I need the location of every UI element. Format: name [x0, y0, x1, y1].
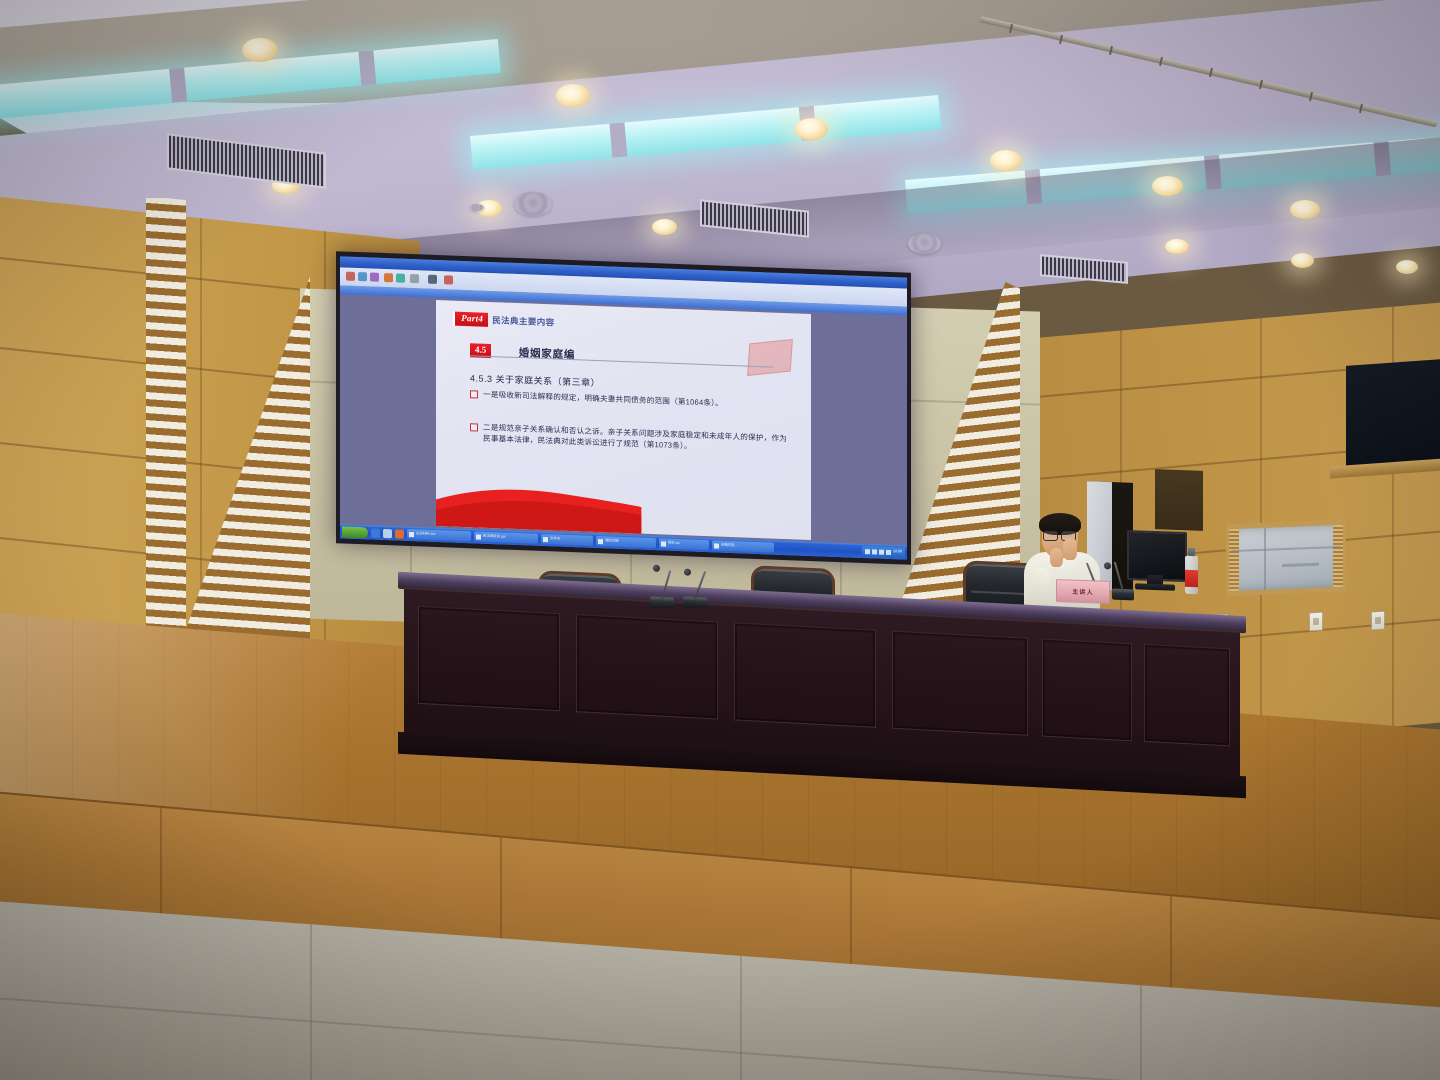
downlight: [1290, 200, 1320, 219]
taskbar-button[interactable]: 文件夹: [541, 534, 593, 546]
slide-bullet: 一是吸收新司法解释的规定，明确夫妻共同债务的范围（第1064条）。: [470, 388, 788, 411]
lecture-hall-photo: Part4 民法典主要内容 4.5 婚姻家庭编 4.5.3 关于家庭关系（第三章…: [0, 0, 1440, 1080]
presentation-canvas: Part4 民法典主要内容 4.5 婚姻家庭编 4.5.3 关于家庭关系（第三章…: [340, 294, 907, 545]
section-divider: [470, 355, 773, 367]
taskbar-button[interactable]: 资料.xls: [659, 538, 709, 550]
quicklaunch-media-icon[interactable]: [395, 529, 404, 538]
presenter-hand-right: [1063, 538, 1077, 560]
projected-desktop: Part4 民法典主要内容 4.5 婚姻家庭编 4.5.3 关于家庭关系（第三章…: [340, 256, 907, 559]
taskbar-button-label: 讲稿内容...: [721, 544, 737, 548]
taskbar-clock: 10:08: [893, 550, 902, 554]
downlight: [795, 118, 828, 140]
taskbar-button-label: 资料.xls: [668, 542, 680, 546]
bullet-text: 一是吸收新司法解释的规定，明确夫妻共同债务的范围（第1064条）。: [483, 389, 723, 410]
nameplate-text: 主讲人: [1072, 587, 1094, 597]
taskbar-button[interactable]: 民法典培训.ppt: [474, 531, 538, 543]
water-bottle: [1185, 548, 1198, 594]
taskbar-button-label: 会议材料.doc: [416, 533, 436, 537]
presentation-slide: Part4 民法典主要内容 4.5 婚姻家庭编 4.5.3 关于家庭关系（第三章…: [436, 300, 810, 540]
bullet-square-icon: [470, 390, 478, 398]
ceiling-speaker: [514, 192, 552, 216]
taskbar-button-label: 民法典培训.ppt: [483, 535, 506, 539]
downlight: [242, 38, 278, 62]
downlight: [1291, 253, 1314, 268]
wall-alcove: [1346, 358, 1440, 470]
taskbar-button-label: 通知文稿: [605, 540, 619, 544]
tray-input-method-icon[interactable]: [879, 549, 884, 554]
start-button[interactable]: [342, 526, 368, 538]
quicklaunch-desktop-icon[interactable]: [383, 528, 392, 537]
tray-volume-icon[interactable]: [872, 549, 877, 554]
bullet-square-icon: [470, 423, 478, 431]
taskbar-button[interactable]: 会议材料.doc: [407, 529, 471, 541]
taskbar-button-label: 文件夹: [550, 538, 560, 542]
smoke-detector: [470, 204, 484, 211]
downlight: [652, 219, 677, 235]
wall-outlet[interactable]: [1371, 611, 1385, 631]
projection-screen[interactable]: Part4 民法典主要内容 4.5 婚姻家庭编 4.5.3 关于家庭关系（第三章…: [336, 251, 911, 565]
slide-wave-decoration: [436, 481, 641, 534]
downlight: [990, 150, 1022, 171]
bullet-text: 二是规范亲子关系确认和否认之诉。亲子关系问题涉及家庭稳定和未成年人的保护，作为民…: [483, 421, 788, 456]
wall-outlet[interactable]: [1309, 612, 1323, 632]
taskbar-button[interactable]: 讲稿内容...: [712, 540, 774, 552]
part-badge: Part4: [453, 312, 488, 327]
part-title: 民法典主要内容: [492, 314, 554, 328]
conference-microphone[interactable]: [683, 565, 707, 608]
downlight: [1396, 260, 1418, 274]
slide-decoration-stamp: [747, 339, 793, 376]
speaker-nameplate: 主讲人: [1056, 579, 1110, 604]
quicklaunch-ie-icon[interactable]: [371, 528, 380, 537]
system-tray[interactable]: 10:08: [862, 545, 905, 558]
tray-network-icon[interactable]: [865, 549, 870, 554]
conference-microphone[interactable]: [650, 565, 674, 608]
presenter-hand-left: [1050, 548, 1063, 567]
slide-bullet: 二是规范亲子关系确认和否认之诉。亲子关系问题涉及家庭稳定和未成年人的保护，作为民…: [470, 421, 788, 456]
ceiling-speaker: [908, 233, 941, 254]
downlight: [1152, 176, 1183, 196]
slide-part-header: Part4 民法典主要内容: [453, 312, 554, 330]
control-room-window: [1226, 520, 1346, 597]
slide-heading: 4.5.3 关于家庭关系（第三章）: [470, 371, 600, 389]
taskbar-button[interactable]: 通知文稿: [596, 536, 656, 548]
tray-shield-icon[interactable]: [886, 549, 891, 554]
wall-recess-shadow: [1155, 469, 1203, 531]
downlight: [1165, 239, 1189, 254]
downlight: [556, 84, 590, 107]
presenter-monitor: [1127, 530, 1183, 592]
